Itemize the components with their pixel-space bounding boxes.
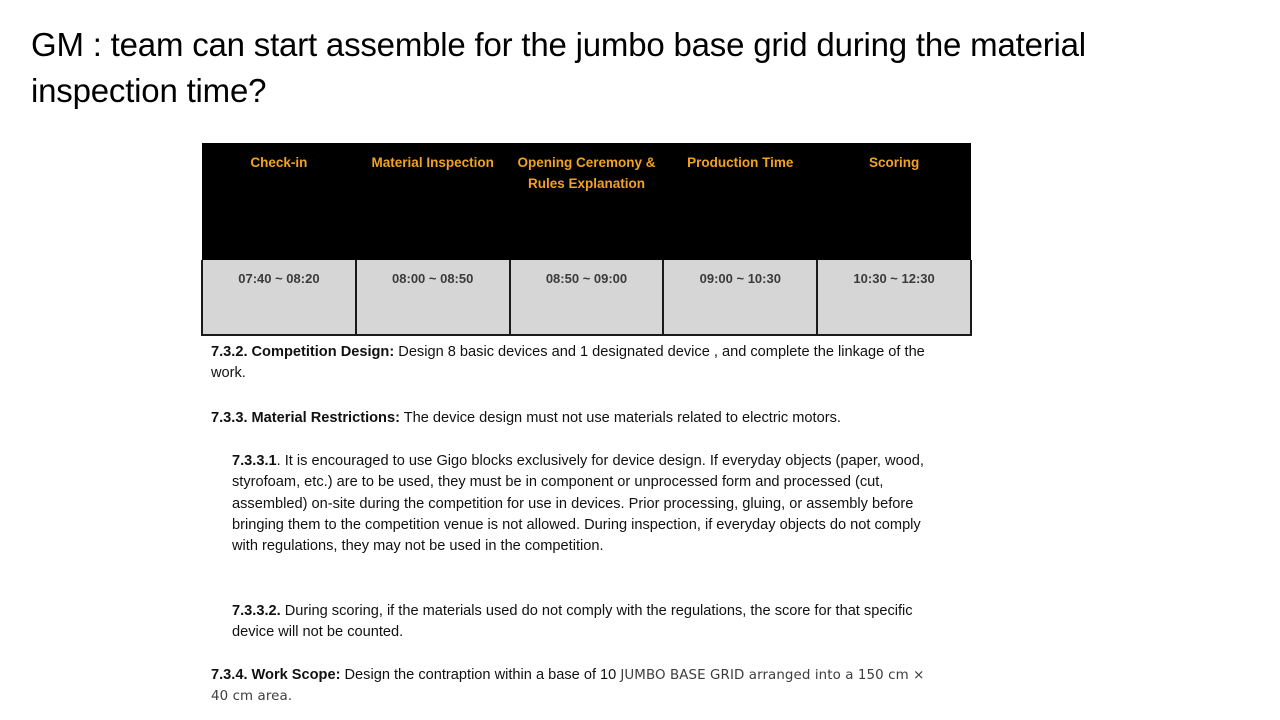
section-number: 7.3.3.1 — [232, 453, 277, 469]
section-number: 7.3.2. — [211, 344, 248, 360]
page-title: GM : team can start assemble for the jum… — [31, 22, 1221, 114]
section-7-3-3-1: 7.3.3.1. It is encouraged to use Gigo bl… — [232, 451, 942, 557]
section-heading: Material Restrictions: — [252, 410, 400, 426]
section-paragraph: 7.3.3.1. It is encouraged to use Gigo bl… — [232, 451, 942, 557]
section-7-3-4: 7.3.4.Work Scope: Design the contraption… — [211, 665, 937, 708]
section-body: During scoring, if the materials used do… — [232, 603, 913, 640]
schedule-header-row: Check-in Material Inspection Opening Cer… — [202, 143, 971, 260]
section-body: The device design must not use materials… — [400, 410, 841, 426]
schedule-time-cell: 08:50 ~ 09:00 — [510, 260, 664, 335]
section-7-3-2: 7.3.2.Competition Design: Design 8 basic… — [211, 342, 937, 385]
schedule-time-cell: 07:40 ~ 08:20 — [202, 260, 356, 335]
schedule-header-cell: Opening Ceremony & Rules Explanation — [510, 143, 664, 260]
schedule-header-cell: Check-in — [202, 143, 356, 260]
section-number: 7.3.4. — [211, 667, 248, 683]
schedule-time-row: 07:40 ~ 08:20 08:00 ~ 08:50 08:50 ~ 09:0… — [202, 260, 971, 335]
schedule-header-cell: Material Inspection — [356, 143, 510, 260]
section-number: 7.3.3.2. — [232, 603, 281, 619]
section-paragraph: 7.3.2.Competition Design: Design 8 basic… — [211, 342, 937, 385]
emphasis-jumbo-base-grid: JUMBO BASE GRID — [620, 668, 744, 683]
section-7-3-3: 7.3.3.Material Restrictions: The device … — [211, 408, 937, 429]
schedule-header-cell: Production Time — [663, 143, 817, 260]
schedule-time-cell: 10:30 ~ 12:30 — [817, 260, 971, 335]
section-7-3-3-2: 7.3.3.2. During scoring, if the material… — [232, 601, 938, 644]
section-heading: Competition Design: — [252, 344, 395, 360]
section-paragraph: 7.3.4.Work Scope: Design the contraption… — [211, 665, 937, 708]
section-paragraph: 7.3.3.Material Restrictions: The device … — [211, 408, 937, 429]
schedule-time-cell: 08:00 ~ 08:50 — [356, 260, 510, 335]
schedule-time-cell: 09:00 ~ 10:30 — [663, 260, 817, 335]
section-paragraph: 7.3.3.2. During scoring, if the material… — [232, 601, 938, 644]
section-body-before: Design the contraption within a base of … — [340, 667, 620, 683]
section-number: 7.3.3. — [211, 410, 248, 426]
schedule-table: Check-in Material Inspection Opening Cer… — [201, 143, 972, 336]
section-heading: Work Scope: — [252, 667, 341, 683]
section-body: . It is encouraged to use Gigo blocks ex… — [232, 453, 924, 554]
schedule-header-cell: Scoring — [817, 143, 971, 260]
